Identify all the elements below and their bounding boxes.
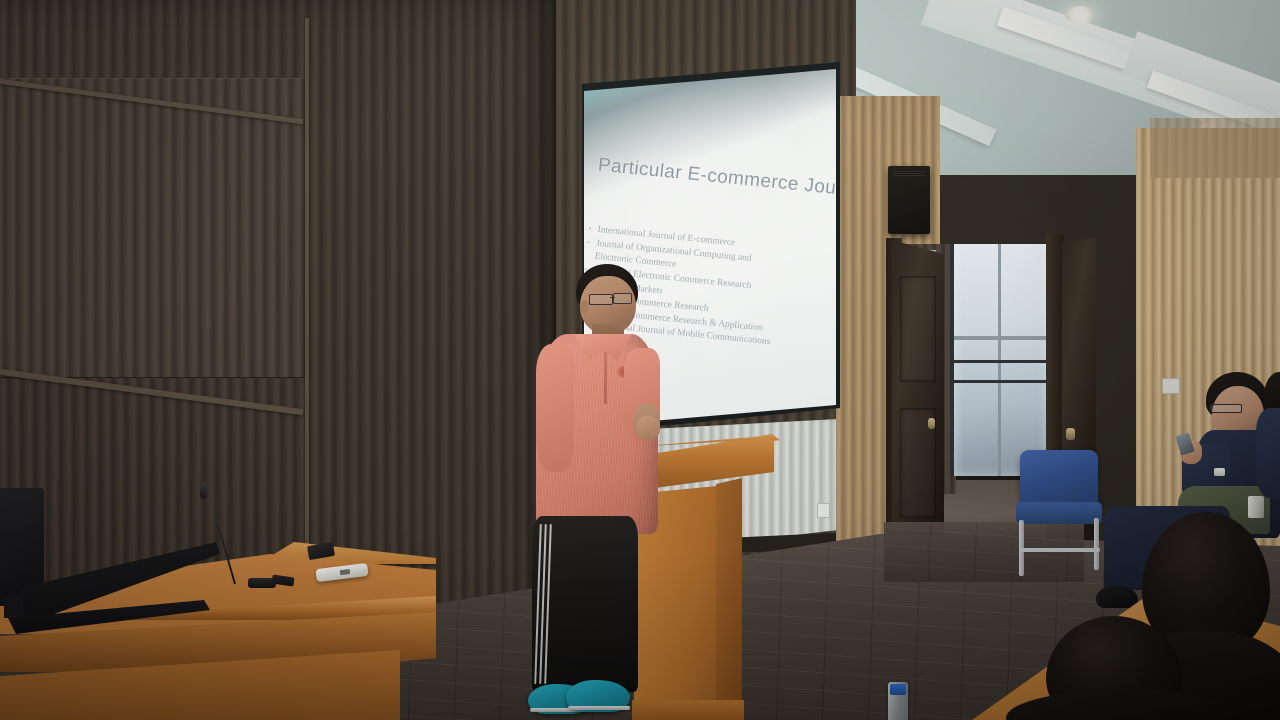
door-knob[interactable]: [928, 418, 935, 429]
window-security-bar-2: [952, 380, 1048, 383]
wall-mounted-speaker: [888, 166, 930, 234]
blue-stacking-chair-back[interactable]: [1020, 450, 1098, 506]
chair-cross-rail: [1020, 548, 1100, 552]
presenter-hand: [636, 416, 660, 440]
drink-can[interactable]: [1248, 496, 1264, 518]
presenter-ear: [580, 300, 589, 313]
podium-base: [632, 700, 744, 720]
floor-doorway-threshold: [884, 522, 1084, 582]
microphone-head: [200, 482, 207, 499]
wall-switch-plate[interactable]: [1162, 378, 1180, 394]
podium-column-shadow-side: [716, 478, 742, 712]
speaker-vent: [893, 171, 925, 175]
audience-2-torso: [1256, 408, 1280, 498]
window-frame-post: [950, 244, 954, 476]
audience-1-glasses: [1210, 404, 1242, 413]
door-panel-upper: [900, 276, 936, 382]
presenter-glasses: [589, 294, 613, 305]
chair-leg-right: [1094, 518, 1099, 570]
left-wall-inset-panel: [0, 78, 306, 378]
presenter-glasses-lens-right: [613, 293, 632, 304]
audience-1-wristwatch: [1214, 468, 1225, 476]
audience-1-shoe: [1096, 586, 1138, 608]
presenter-glasses-bridge: [610, 297, 615, 298]
door-handle-right[interactable]: [1066, 428, 1075, 440]
water-bottle-cap: [890, 684, 906, 695]
ceiling-downlight-1: [1065, 6, 1095, 24]
lecture-hall-photograph: Particular E-commerce Journals Internati…: [0, 0, 1280, 720]
window-mullion-horizontal: [954, 336, 1048, 340]
wall-outlet: [817, 503, 830, 518]
remote-button[interactable]: [340, 569, 351, 575]
open-door[interactable]: [892, 240, 944, 558]
slide-title: Particular E-commerce Journals: [597, 155, 836, 204]
window-security-bar-1: [952, 360, 1048, 363]
presenter-shirt-placket: [604, 352, 607, 404]
blue-stacking-chair-seat[interactable]: [1016, 502, 1102, 524]
presenter-left-arm: [536, 344, 574, 472]
presenter-shoe-right-sole: [568, 706, 630, 710]
right-wall-corner-strip: [1150, 118, 1280, 178]
